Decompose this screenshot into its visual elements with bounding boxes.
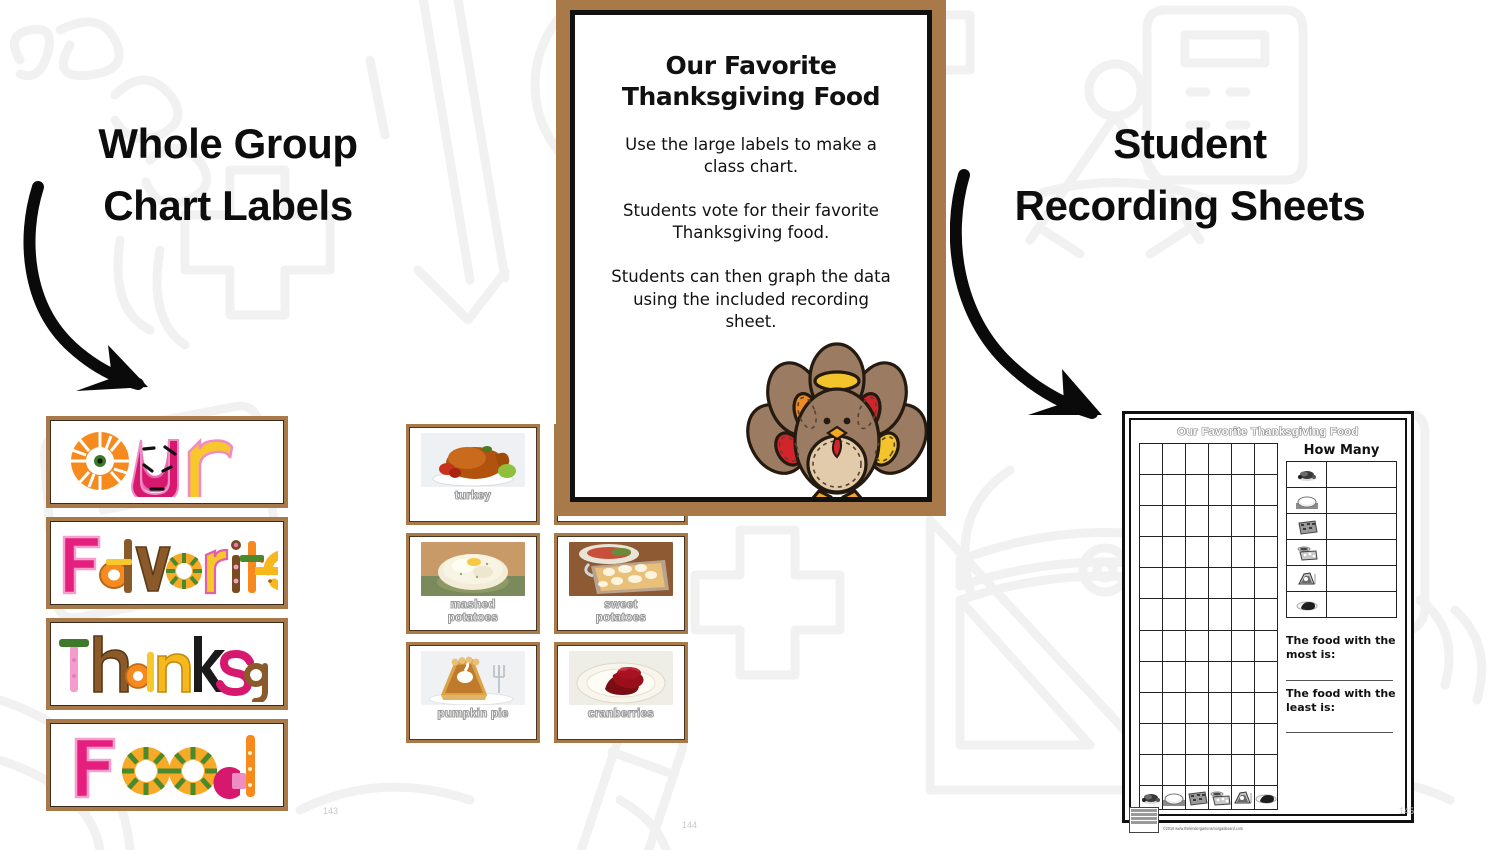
prompt-most-answer-line[interactable]: [1286, 667, 1393, 681]
grid-cell[interactable]: [1232, 475, 1255, 506]
grid-cell[interactable]: [1232, 599, 1255, 630]
grid-cell[interactable]: [1140, 599, 1163, 630]
roast-turkey-photo: [421, 433, 525, 487]
word-art-food: [62, 727, 272, 803]
prompt-least-answer-line[interactable]: [1286, 719, 1393, 733]
grid-cell[interactable]: [1255, 568, 1278, 599]
recording-sheet-footer: ©2016 www.thekindergartensmorgasboard.co…: [1129, 807, 1243, 833]
food-card-label: sweetpotatoes: [596, 599, 646, 625]
food-card-sweet-potatoes[interactable]: sweetpotatoes: [554, 533, 688, 634]
grid-cell[interactable]: [1163, 506, 1186, 537]
page-title-right: Student Recording Sheets: [980, 113, 1400, 237]
chart-label-card-food[interactable]: [46, 719, 288, 811]
grid-cell[interactable]: [1209, 755, 1232, 786]
grid-cell[interactable]: [1163, 631, 1186, 662]
grid-row[interactable]: [1140, 755, 1278, 786]
grid-row[interactable]: [1140, 506, 1278, 537]
grid-cell[interactable]: [1232, 662, 1255, 693]
grid-cell[interactable]: [1209, 631, 1232, 662]
grid-cell[interactable]: [1163, 755, 1186, 786]
grid-cell[interactable]: [1255, 599, 1278, 630]
grid-cell[interactable]: [1255, 755, 1278, 786]
grid-cell[interactable]: [1232, 693, 1255, 724]
grid-cell[interactable]: [1140, 506, 1163, 537]
tally-icon-cranberries: [1287, 592, 1327, 618]
grid-cell[interactable]: [1209, 568, 1232, 599]
grid-cell[interactable]: [1140, 662, 1163, 693]
grid-row[interactable]: [1140, 537, 1278, 568]
tally-row-stuffing[interactable]: [1287, 514, 1397, 540]
grid-cell[interactable]: [1163, 693, 1186, 724]
tally-row-sweet-potatoes[interactable]: [1287, 540, 1397, 566]
tally-answer-cell[interactable]: [1327, 540, 1397, 566]
chart-label-card-favorite[interactable]: [46, 517, 288, 609]
grid-cell[interactable]: [1232, 724, 1255, 755]
page-number-left: 143: [323, 806, 338, 816]
grid-row[interactable]: [1140, 724, 1278, 755]
grid-cell[interactable]: [1209, 475, 1232, 506]
prompt-least-text: The food with the least is:: [1286, 687, 1397, 716]
recording-sheet-title: Our Favorite Thanksgiving Food: [1139, 426, 1397, 438]
grid-cell[interactable]: [1186, 506, 1209, 537]
grid-cell[interactable]: [1209, 693, 1232, 724]
grid-cell[interactable]: [1140, 693, 1163, 724]
heading-right-line2: Recording Sheets: [980, 175, 1400, 237]
grid-cell[interactable]: [1186, 724, 1209, 755]
footer-credit-text: ©2016 www.thekindergartensmorgasboard.co…: [1163, 826, 1243, 833]
grid-cell[interactable]: [1255, 631, 1278, 662]
grid-cell[interactable]: [1186, 662, 1209, 693]
tally-icon-stuffing: [1287, 514, 1327, 540]
tally-icon-pumpkin-pie: [1287, 566, 1327, 592]
grid-cell[interactable]: [1186, 537, 1209, 568]
grid-cell[interactable]: [1186, 475, 1209, 506]
grid-cell[interactable]: [1163, 568, 1186, 599]
how-many-table[interactable]: [1286, 461, 1397, 618]
food-card-label: pumpkin pie: [437, 708, 508, 721]
tally-row-pumpkin-pie[interactable]: [1287, 566, 1397, 592]
grid-cell[interactable]: [1209, 444, 1232, 475]
word-art-our: [59, 427, 275, 497]
grid-row[interactable]: [1140, 475, 1278, 506]
chart-labels-group: [46, 416, 288, 811]
grid-cell[interactable]: [1255, 537, 1278, 568]
grid-cell[interactable]: [1163, 444, 1186, 475]
grid-cell[interactable]: [1232, 444, 1255, 475]
turkey-clipart-icon: [737, 321, 932, 502]
grid-cell[interactable]: [1186, 693, 1209, 724]
heading-right-line1: Student: [980, 113, 1400, 175]
grid-row[interactable]: [1140, 444, 1278, 475]
student-recording-sheet[interactable]: Our Favorite Thanksgiving Food: [1122, 411, 1414, 823]
grid-cell[interactable]: [1163, 662, 1186, 693]
grid-row[interactable]: [1140, 631, 1278, 662]
grid-row[interactable]: [1140, 693, 1278, 724]
cranberry-sauce-photo: [569, 651, 673, 705]
grid-cell[interactable]: [1232, 568, 1255, 599]
tally-icon-sweet-potatoes: [1287, 540, 1327, 566]
grid-cell[interactable]: [1140, 724, 1163, 755]
grid-cell[interactable]: [1209, 506, 1232, 537]
tally-answer-cell[interactable]: [1327, 514, 1397, 540]
word-art-favorite: [56, 525, 278, 601]
grid-cell[interactable]: [1140, 568, 1163, 599]
grid-cell[interactable]: [1186, 755, 1209, 786]
food-card-mashed-potatoes[interactable]: mashedpotatoes: [406, 533, 540, 634]
page-number-center: 144: [682, 820, 697, 830]
grid-row[interactable]: [1140, 568, 1278, 599]
grid-cell[interactable]: [1163, 599, 1186, 630]
grid-cell[interactable]: [1163, 724, 1186, 755]
sweet-potatoes-photo: [569, 542, 673, 596]
poster-title: Our Favorite Thanksgiving Food: [605, 51, 897, 112]
food-card-pumpkin-pie[interactable]: pumpkin pie: [406, 642, 540, 743]
grid-cell[interactable]: [1186, 631, 1209, 662]
tally-answer-cell[interactable]: [1327, 488, 1397, 514]
grid-cell[interactable]: [1232, 631, 1255, 662]
food-card-label: cranberries: [588, 708, 654, 721]
tally-row-cranberries[interactable]: [1287, 592, 1397, 618]
chart-label-card-our[interactable]: [46, 416, 288, 508]
poster-paragraph-2: Students vote for their favorite Thanksg…: [605, 200, 897, 244]
chart-label-card-thanksgiving[interactable]: [46, 618, 288, 710]
grid-cell[interactable]: [1255, 662, 1278, 693]
tally-row-mashed-potatoes[interactable]: [1287, 488, 1397, 514]
grid-cell[interactable]: [1255, 475, 1278, 506]
prompt-most-block: The food with the most is:: [1286, 634, 1397, 681]
grid-cell[interactable]: [1140, 537, 1163, 568]
tally-row-turkey[interactable]: [1287, 462, 1397, 488]
grid-cell[interactable]: [1232, 506, 1255, 537]
footer-logo-thumbnail: [1129, 807, 1159, 833]
grid-cell[interactable]: [1232, 537, 1255, 568]
food-card-cranberries[interactable]: cranberries: [554, 642, 688, 743]
tally-icon-mashed-potatoes: [1287, 488, 1327, 514]
page-title-left: Whole Group Chart Labels: [38, 113, 418, 237]
grid-cell[interactable]: [1163, 475, 1186, 506]
grid-cell[interactable]: [1140, 475, 1163, 506]
page-number-right: 145: [1399, 806, 1414, 816]
grid-cell[interactable]: [1209, 599, 1232, 630]
grid-cell[interactable]: [1163, 537, 1186, 568]
grid-cell[interactable]: [1232, 755, 1255, 786]
word-art-thanksgiving: [54, 626, 280, 702]
mashed-potatoes-photo: [421, 542, 525, 596]
tally-icon-turkey: [1287, 462, 1327, 488]
tally-answer-cell[interactable]: [1327, 462, 1397, 488]
grid-row[interactable]: [1140, 599, 1278, 630]
prompt-least-block: The food with the least is:: [1286, 687, 1397, 734]
food-card-label: turkey: [455, 490, 491, 503]
grid-cell[interactable]: [1209, 662, 1232, 693]
pumpkin-pie-photo: [421, 651, 525, 705]
grid-cell[interactable]: [1255, 444, 1278, 475]
food-card-label: mashedpotatoes: [448, 599, 498, 625]
grid-cell[interactable]: [1186, 444, 1209, 475]
grid-cell[interactable]: [1255, 693, 1278, 724]
grid-row[interactable]: [1140, 662, 1278, 693]
grid-icon-cell-cranberries: [1255, 786, 1278, 810]
poster-paragraph-1: Use the large labels to make a class cha…: [605, 134, 897, 178]
grid-cell[interactable]: [1186, 599, 1209, 630]
tally-answer-cell[interactable]: [1327, 592, 1397, 618]
grid-cell[interactable]: [1209, 724, 1232, 755]
grid-cell[interactable]: [1140, 755, 1163, 786]
heading-left-line1: Whole Group: [38, 113, 418, 175]
how-many-label: How Many: [1286, 443, 1397, 458]
grid-cell[interactable]: [1255, 724, 1278, 755]
grid-cell[interactable]: [1186, 568, 1209, 599]
heading-left-line2: Chart Labels: [38, 175, 418, 237]
prompt-most-text: The food with the most is:: [1286, 634, 1397, 663]
grid-cell[interactable]: [1140, 631, 1163, 662]
grid-cell[interactable]: [1140, 444, 1163, 475]
graph-grid[interactable]: [1139, 443, 1278, 810]
grid-cell[interactable]: [1255, 506, 1278, 537]
tally-answer-cell[interactable]: [1327, 566, 1397, 592]
food-card-turkey[interactable]: turkey: [406, 424, 540, 525]
cover-poster[interactable]: Our Favorite Thanksgiving Food Use the l…: [556, 0, 946, 516]
grid-cell[interactable]: [1209, 537, 1232, 568]
